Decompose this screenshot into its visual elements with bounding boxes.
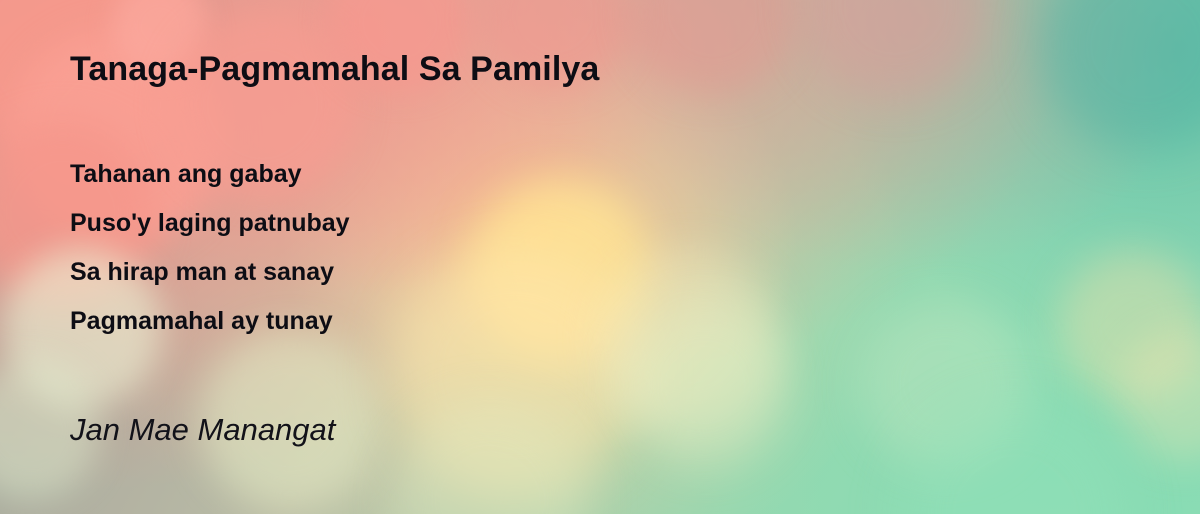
poem-text-block: Tanaga-Pagmamahal Sa Pamilya Tahanan ang… [0,0,1200,514]
page-title: Tanaga-Pagmamahal Sa Pamilya [70,50,599,89]
poem-line: Puso'y laging patnubay [70,207,350,256]
poem-line: Pagmamahal ay tunay [70,305,350,354]
poem-image-card: Tanaga-Pagmamahal Sa Pamilya Tahanan ang… [0,0,1200,514]
poem-body: Tahanan ang gabayPuso'y laging patnubayS… [70,158,350,354]
poem-line: Sa hirap man at sanay [70,256,350,305]
poem-author: Jan Mae Manangat [70,412,335,448]
poem-line: Tahanan ang gabay [70,158,350,207]
